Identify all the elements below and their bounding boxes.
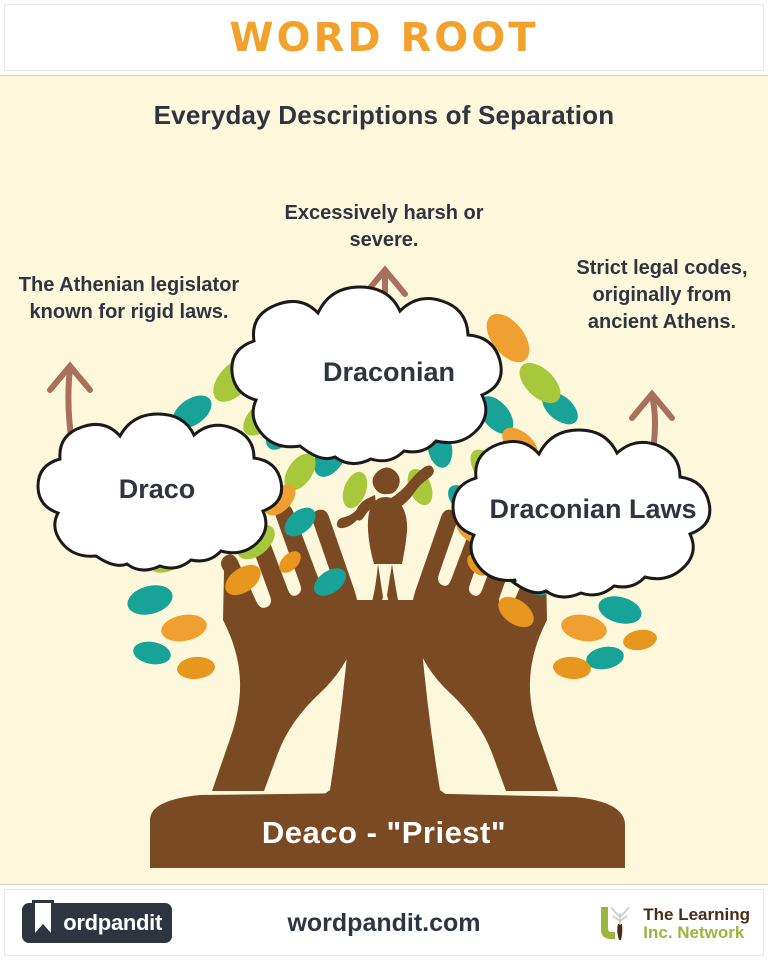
learning-network-logo[interactable]: The Learning Inc. Network	[595, 903, 750, 945]
callout-left-text: The Athenian legislator known for rigid …	[16, 272, 242, 326]
cloud-draconian-laws-label: Draconian Laws	[452, 430, 734, 586]
learning-network-text: The Learning Inc. Network	[643, 906, 750, 943]
footer-bar: ordpandit wordpandit.com The Learning In…	[0, 884, 768, 960]
callout-top-text: Excessively harsh or severe.	[262, 200, 506, 254]
learning-network-line1: The Learning	[643, 906, 750, 924]
tree-swoosh-icon	[595, 903, 635, 945]
cloud-draconian-laws[interactable]: Draconian Laws	[452, 430, 734, 582]
cloud-draco-label: Draco	[20, 422, 294, 558]
callout-right-text: Strict legal codes, originally from anci…	[566, 255, 758, 336]
root-word-label: Deaco - "Priest"	[0, 815, 768, 851]
cloud-draco[interactable]: Draco	[20, 422, 294, 558]
infographic-page: WORD ROOT Everyday Descriptions of Separ…	[0, 0, 768, 960]
learning-network-line2: Inc. Network	[643, 924, 750, 942]
